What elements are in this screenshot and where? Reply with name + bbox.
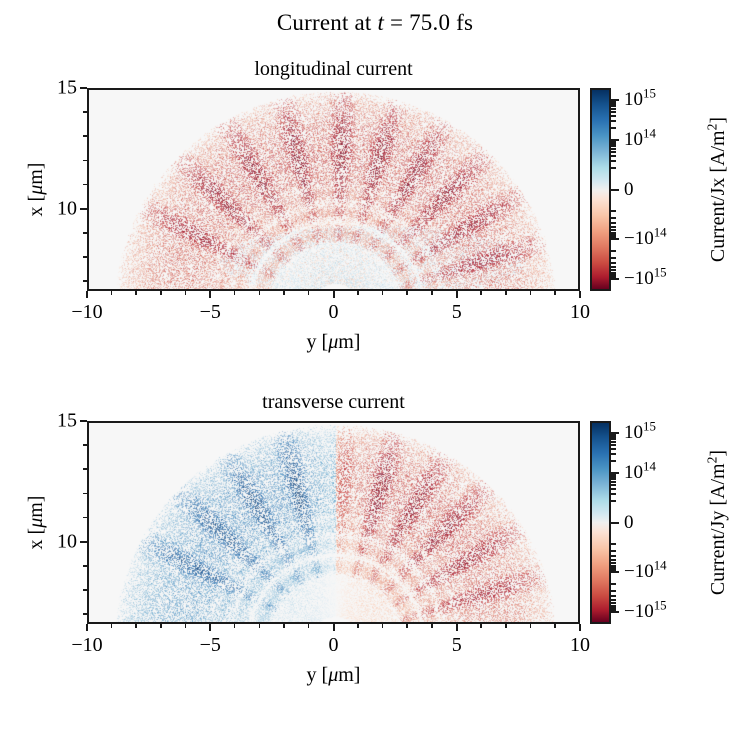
colorbar-ticklabel: 0 bbox=[624, 512, 634, 534]
xtick-minor bbox=[357, 291, 359, 295]
xtick-minor bbox=[111, 624, 113, 628]
ytick-minor bbox=[83, 160, 87, 162]
colorbar-minor-tick bbox=[611, 602, 616, 604]
colorbar-major-tick bbox=[611, 278, 619, 280]
colorbar-minor-tick bbox=[611, 448, 616, 450]
colorbar-major-tick bbox=[611, 189, 619, 191]
colorbar-minor-tick bbox=[611, 269, 616, 271]
ytick-minor bbox=[83, 517, 87, 519]
colorbar-minor-tick bbox=[611, 217, 616, 219]
colorbar-minor-tick bbox=[611, 266, 616, 268]
xticklabel: 10 bbox=[570, 634, 590, 657]
xtick-minor bbox=[554, 624, 556, 628]
xtick-major bbox=[209, 624, 211, 631]
colorbar-minor-tick bbox=[611, 145, 616, 147]
colorbar-minor-tick bbox=[611, 222, 616, 224]
ytick-minor bbox=[83, 468, 87, 470]
xticklabel: −10 bbox=[71, 634, 102, 657]
xtick-minor bbox=[357, 624, 359, 628]
colorbar-minor-tick bbox=[611, 559, 616, 561]
xtick-minor bbox=[480, 624, 482, 628]
colorbar-minor-tick bbox=[611, 438, 616, 440]
xtick-minor bbox=[406, 291, 408, 295]
xtick-minor bbox=[160, 624, 162, 628]
xtick-minor bbox=[234, 291, 236, 295]
xticklabel: −5 bbox=[200, 634, 221, 657]
xticklabel: 5 bbox=[452, 634, 462, 657]
colorbar-ticklabel: 1015 bbox=[624, 422, 656, 444]
colorbar-major-tick bbox=[611, 522, 619, 524]
suptitle-equation: = 75.0 fs bbox=[384, 10, 473, 35]
xtick-minor bbox=[234, 624, 236, 628]
xtick-minor bbox=[382, 291, 384, 295]
colorbar-minor-tick bbox=[611, 250, 616, 252]
axes-title-longitudinal: longitudinal current bbox=[87, 58, 580, 81]
xtick-minor bbox=[135, 624, 137, 628]
ytick-minor bbox=[83, 613, 87, 615]
xtick-minor bbox=[185, 291, 187, 295]
xtick-major bbox=[333, 624, 335, 631]
colorbar-minor-tick bbox=[611, 111, 616, 113]
suptitle-prefix: Current at bbox=[277, 10, 378, 35]
xtick-major bbox=[456, 291, 458, 298]
xtick-minor bbox=[554, 291, 556, 295]
colorbar-label-longitudinal: Current/Jx [A/m2] bbox=[707, 88, 730, 291]
xtick-minor bbox=[505, 291, 507, 295]
colorbar-label-transverse: Current/Jy [A/m2] bbox=[707, 421, 730, 624]
ytick-minor bbox=[83, 493, 87, 495]
xtick-major bbox=[86, 291, 88, 298]
colorbar-minor-tick bbox=[611, 453, 616, 455]
colorbar-minor-tick bbox=[611, 167, 616, 169]
xticklabel: −5 bbox=[200, 301, 221, 324]
colorbar-minor-tick bbox=[611, 434, 616, 436]
colorbar-minor-tick bbox=[611, 262, 616, 264]
xtick-major bbox=[209, 291, 211, 298]
xticklabel: 5 bbox=[452, 301, 462, 324]
colorbar-ticklabel: −1014 bbox=[624, 561, 667, 583]
xtick-minor bbox=[382, 624, 384, 628]
colorbar-ticklabel: −1014 bbox=[624, 228, 667, 250]
xaxis-label-longitudinal: y [μm] bbox=[87, 331, 580, 354]
xticklabel: −10 bbox=[71, 301, 102, 324]
colorbar-major-tick bbox=[611, 571, 619, 573]
colorbar-ticklabel: 0 bbox=[624, 179, 634, 201]
colorbar-ticklabel: 1014 bbox=[624, 129, 656, 151]
figure-suptitle: Current at t = 75.0 fs bbox=[0, 10, 750, 36]
yaxis-label-longitudinal: x [μm] bbox=[25, 88, 48, 291]
colorbar-minor-tick bbox=[611, 120, 616, 122]
colorbar-minor-tick bbox=[611, 108, 616, 110]
xtick-minor bbox=[283, 291, 285, 295]
xtick-major bbox=[456, 624, 458, 631]
colorbar-minor-tick bbox=[611, 476, 616, 478]
ytick-minor bbox=[83, 135, 87, 137]
colorbar-minor-tick bbox=[611, 555, 616, 557]
colorbar-minor-tick bbox=[611, 155, 616, 157]
plot-area-longitudinal[interactable] bbox=[87, 88, 580, 291]
xtick-minor bbox=[308, 624, 310, 628]
colorbar-minor-tick bbox=[611, 474, 616, 476]
colorbar-minor-tick bbox=[611, 481, 616, 483]
xtick-minor bbox=[480, 291, 482, 295]
colorbar-minor-tick bbox=[611, 101, 616, 103]
colorbar-major-tick bbox=[611, 611, 619, 613]
plot-area-transverse[interactable] bbox=[87, 421, 580, 624]
colorbar-minor-tick bbox=[611, 590, 616, 592]
colorbar-minor-tick bbox=[611, 151, 616, 153]
xtick-minor bbox=[135, 291, 137, 295]
xtick-minor bbox=[111, 291, 113, 295]
colorbar-ticklabel: −1015 bbox=[624, 601, 667, 623]
colorbar-minor-tick bbox=[611, 115, 616, 117]
ytick-minor bbox=[83, 232, 87, 234]
colorbar-minor-tick bbox=[611, 488, 616, 490]
ytick-minor bbox=[83, 184, 87, 186]
colorbar-major-tick bbox=[611, 139, 619, 141]
colorbar-minor-tick bbox=[611, 599, 616, 601]
colorbar-minor-tick bbox=[611, 595, 616, 597]
xtick-major bbox=[579, 291, 581, 298]
ytick-major bbox=[80, 87, 87, 89]
xtick-minor bbox=[308, 291, 310, 295]
ytick-major bbox=[80, 208, 87, 210]
colorbar-minor-tick bbox=[611, 543, 616, 545]
colorbar-major-tick bbox=[611, 432, 619, 434]
panel-longitudinal: longitudinal current−10−505101015y [μm]x… bbox=[87, 88, 580, 291]
xaxis-label-transverse: y [μm] bbox=[87, 664, 580, 687]
panel-transverse: transverse current−10−505101015y [μm]x [… bbox=[87, 421, 580, 624]
colorbar-minor-tick bbox=[611, 105, 616, 107]
colorbar-ticklabel: 1014 bbox=[624, 462, 656, 484]
colorbar-major-tick bbox=[611, 472, 619, 474]
colorbar-minor-tick bbox=[611, 436, 616, 438]
scatter-layer-transverse bbox=[89, 423, 580, 624]
xtick-minor bbox=[283, 624, 285, 628]
ytick-major bbox=[80, 420, 87, 422]
ytick-minor bbox=[83, 280, 87, 282]
xtick-major bbox=[333, 291, 335, 298]
colorbar-minor-tick bbox=[611, 226, 616, 228]
xtick-minor bbox=[259, 624, 261, 628]
axes-title-transverse: transverse current bbox=[87, 391, 580, 414]
colorbar-minor-tick bbox=[611, 141, 616, 143]
xtick-minor bbox=[530, 291, 532, 295]
colorbar-minor-tick bbox=[611, 210, 616, 212]
colorbar-minor-tick bbox=[611, 127, 616, 129]
colorbar-ticklabel: 1015 bbox=[624, 89, 656, 111]
ytick-minor bbox=[83, 256, 87, 258]
colorbar-gradient-longitudinal bbox=[590, 88, 611, 291]
colorbar-minor-tick bbox=[611, 441, 616, 443]
xticklabel: 0 bbox=[329, 634, 339, 657]
ytick-minor bbox=[83, 589, 87, 591]
colorbar-major-tick bbox=[611, 99, 619, 101]
ytick-major bbox=[80, 541, 87, 543]
xtick-major bbox=[86, 624, 88, 631]
xtick-minor bbox=[431, 291, 433, 295]
xtick-minor bbox=[530, 624, 532, 628]
figure-canvas: Current at t = 75.0 fs longitudinal curr… bbox=[0, 0, 750, 750]
colorbar-ticklabel: −1015 bbox=[624, 268, 667, 290]
colorbar-longitudinal: 101510140−1014−1015Current/Jx [A/m2] bbox=[590, 88, 611, 291]
colorbar-minor-tick bbox=[611, 562, 616, 564]
ytick-minor bbox=[83, 111, 87, 113]
colorbar-minor-tick bbox=[611, 444, 616, 446]
xtick-minor bbox=[160, 291, 162, 295]
colorbar-minor-tick bbox=[611, 460, 616, 462]
colorbar-minor-tick bbox=[611, 160, 616, 162]
colorbar-major-tick bbox=[611, 238, 619, 240]
colorbar-minor-tick bbox=[611, 493, 616, 495]
colorbar-minor-tick bbox=[611, 143, 616, 145]
xtick-minor bbox=[259, 291, 261, 295]
yaxis-label-transverse: x [μm] bbox=[25, 421, 48, 624]
xtick-minor bbox=[431, 624, 433, 628]
xtick-minor bbox=[505, 624, 507, 628]
xtick-minor bbox=[185, 624, 187, 628]
ytick-minor bbox=[83, 565, 87, 567]
colorbar-minor-tick bbox=[611, 550, 616, 552]
xticklabel: 0 bbox=[329, 301, 339, 324]
colorbar-minor-tick bbox=[611, 478, 616, 480]
colorbar-minor-tick bbox=[611, 484, 616, 486]
xtick-minor bbox=[406, 624, 408, 628]
colorbar-minor-tick bbox=[611, 500, 616, 502]
ytick-minor bbox=[83, 444, 87, 446]
colorbar-minor-tick bbox=[611, 583, 616, 585]
colorbar-transverse: 101510140−1014−1015Current/Jy [A/m2] bbox=[590, 421, 611, 624]
colorbar-minor-tick bbox=[611, 103, 616, 105]
xtick-major bbox=[579, 624, 581, 631]
colorbar-gradient-transverse bbox=[590, 421, 611, 624]
scatter-layer-longitudinal bbox=[89, 90, 580, 291]
colorbar-minor-tick bbox=[611, 148, 616, 150]
colorbar-minor-tick bbox=[611, 229, 616, 231]
colorbar-minor-tick bbox=[611, 257, 616, 259]
xticklabel: 10 bbox=[570, 301, 590, 324]
